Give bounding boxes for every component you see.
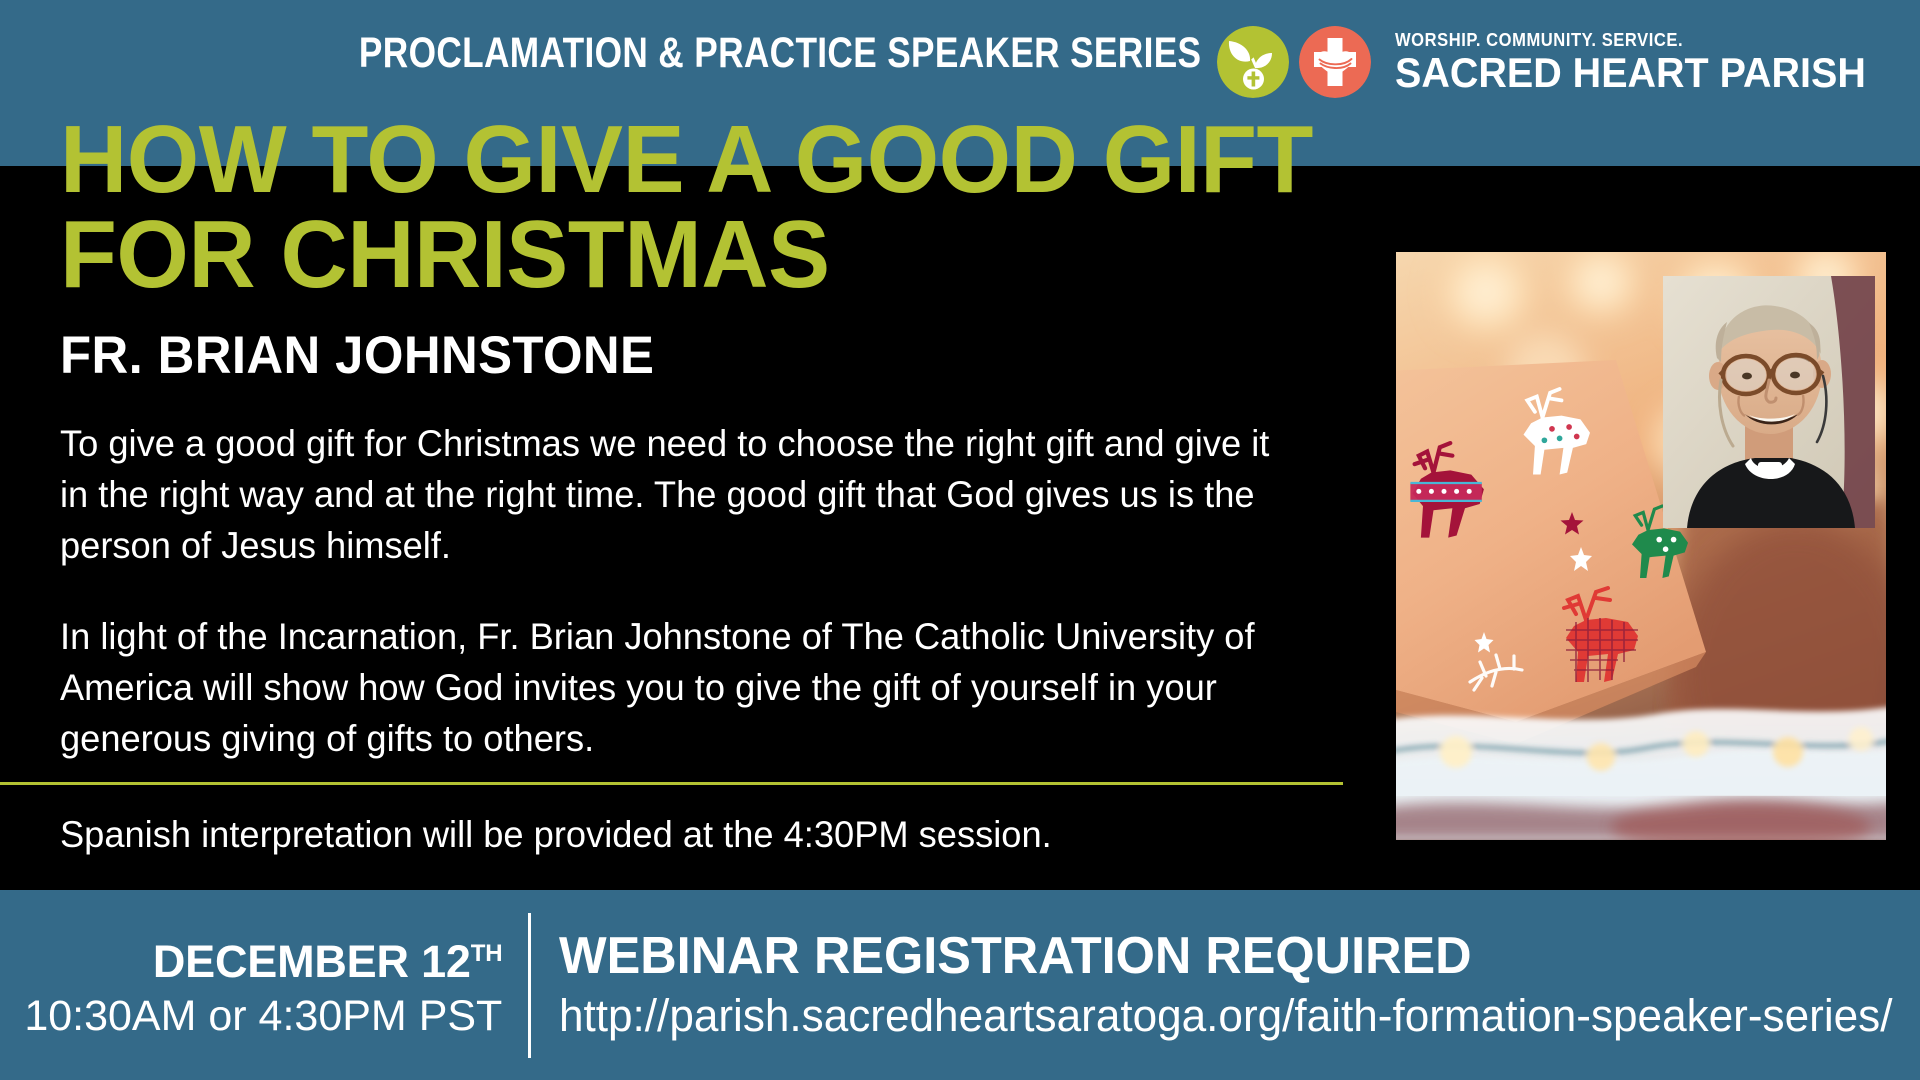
- event-datetime-block: DECEMBER 12TH 10:30AM or 4:30PM PST: [0, 927, 528, 1043]
- speaker-portrait-photo: [1663, 276, 1875, 528]
- seedling-cross-logo-icon: [1217, 26, 1289, 98]
- event-date-ordinal: TH: [471, 940, 503, 967]
- page-title: HOW TO GIVE A GOOD GIFT FOR CHRISTMAS: [60, 112, 1313, 302]
- speaker-series-title: PROCLAMATION & PRACTICE SPEAKER SERIES: [359, 30, 1201, 76]
- speaker-name: FR. BRIAN JOHNSTONE: [60, 325, 654, 386]
- event-date: DECEMBER 12TH: [0, 927, 502, 989]
- description-paragraph-1: To give a good gift for Christmas we nee…: [60, 418, 1305, 571]
- parish-tagline: WORSHIP. COMMUNITY. SERVICE.: [1395, 31, 1856, 49]
- footer-content: DECEMBER 12TH 10:30AM or 4:30PM PST WEBI…: [0, 890, 1920, 1080]
- description-body: To give a good gift for Christmas we nee…: [60, 418, 1305, 764]
- cross-heart-logo-icon: [1299, 26, 1371, 98]
- parish-branding: WORSHIP. COMMUNITY. SERVICE. SACRED HEAR…: [1395, 31, 1896, 94]
- parish-name: SACRED HEART PARISH: [1395, 52, 1866, 94]
- event-date-text: DECEMBER 12: [153, 936, 471, 987]
- logo-group: WORSHIP. COMMUNITY. SERVICE. SACRED HEAR…: [1217, 26, 1896, 98]
- registration-block: WEBINAR REGISTRATION REQUIRED http://par…: [531, 925, 1920, 1045]
- event-time: 10:30AM or 4:30PM PST: [0, 989, 502, 1043]
- description-paragraph-2: In light of the Incarnation, Fr. Brian J…: [60, 611, 1305, 764]
- spanish-interpretation-note: Spanish interpretation will be provided …: [60, 810, 1052, 860]
- section-divider: [0, 782, 1343, 785]
- event-flyer: PROCLAMATION & PRACTICE SPEAKER SERIES: [0, 0, 1920, 1080]
- registration-url-link[interactable]: http://parish.sacredheartsaratoga.org/fa…: [559, 987, 1892, 1045]
- registration-heading: WEBINAR REGISTRATION REQUIRED: [559, 925, 1879, 987]
